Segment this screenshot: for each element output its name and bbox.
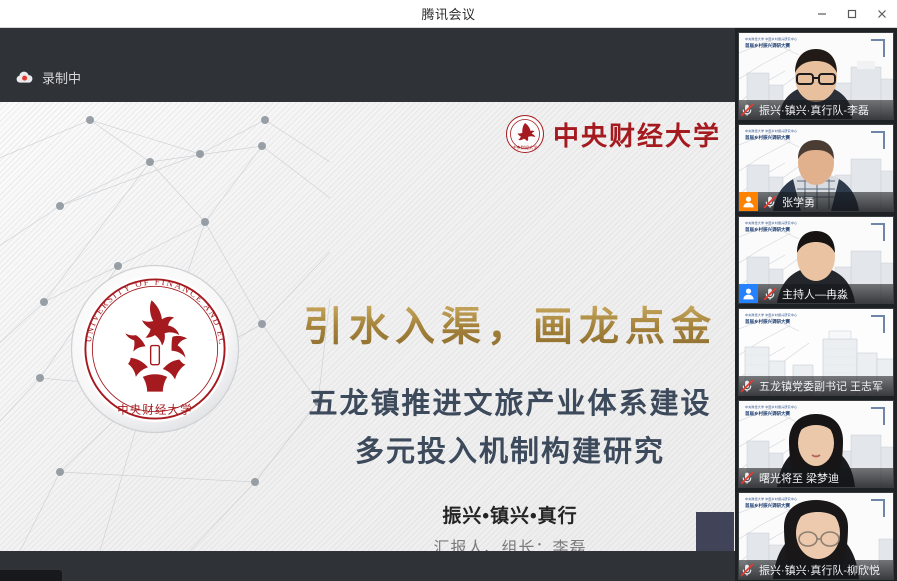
slide-subtitle-line-2: 多元投入机制构建研究	[300, 428, 720, 470]
participant-tile[interactable]: 中央财经大学 中国乡村振兴研究中心 首届乡村振兴调研大赛 振兴·镇兴·真行队-李…	[738, 32, 894, 120]
participant-footer: 振兴·镇兴·真行队-柳欣悦	[739, 560, 893, 579]
university-seal-small-icon: 中央财经大学	[505, 114, 545, 154]
virtual-background-banner: 中央财经大学 中国乡村振兴研究中心 首届乡村振兴调研大赛	[745, 37, 815, 59]
participant-tile[interactable]: 中央财经大学 中国乡村振兴研究中心 首届乡村振兴调研大赛 振兴·镇兴·真行队-柳…	[738, 492, 894, 580]
window-title: 腾讯会议	[421, 4, 475, 23]
virtual-background-banner: 中央财经大学 中国乡村振兴研究中心 首届乡村振兴调研大赛	[745, 313, 815, 335]
cohost-badge-icon	[739, 284, 758, 303]
university-wordmark: 中央财经大学 中央财经大学	[505, 114, 721, 154]
banner-line-2: 首届乡村振兴调研大赛	[745, 503, 815, 509]
participant-name: 主持人—冉淼	[782, 286, 848, 302]
mic-muted-icon[interactable]	[762, 194, 778, 210]
slide-decoration-bar	[696, 512, 734, 551]
banner-line-2: 首届乡村振兴调研大赛	[745, 43, 815, 49]
slide-subtitle-line-1: 五龙镇推进文旅产业体系建设	[300, 380, 720, 422]
window-controls	[807, 0, 897, 28]
participant-video-rail[interactable]: 中央财经大学 中国乡村振兴研究中心 首届乡村振兴调研大赛 振兴·镇兴·真行队-李…	[735, 28, 897, 581]
banner-line-2: 首届乡村振兴调研大赛	[745, 319, 815, 325]
svg-text:中央财经大学: 中央财经大学	[512, 144, 537, 151]
banner-line-1: 中央财经大学 中国乡村振兴研究中心	[745, 221, 815, 225]
participant-footer: 五龙镇党委副书记 王志军	[739, 376, 893, 395]
participant-footer: 张学勇	[739, 192, 893, 211]
banner-line-1: 中央财经大学 中国乡村振兴研究中心	[745, 37, 815, 41]
presentation-slide: 中央财经大学 中央财经大学	[0, 102, 735, 551]
participant-tile[interactable]: 中央财经大学 中国乡村振兴研究中心 首届乡村振兴调研大赛	[738, 216, 894, 304]
mic-muted-icon[interactable]	[762, 286, 778, 302]
university-name: 中央财经大学	[553, 116, 721, 153]
mic-muted-icon[interactable]	[739, 470, 755, 486]
close-icon[interactable]	[867, 0, 897, 28]
participant-name: 曙光将至 梁梦迪	[759, 470, 839, 486]
banner-line-1: 中央财经大学 中国乡村振兴研究中心	[745, 129, 815, 133]
maximize-icon[interactable]	[837, 0, 867, 28]
recording-indicator: 录制中	[16, 66, 81, 88]
banner-line-1: 中央财经大学 中国乡村振兴研究中心	[745, 497, 815, 501]
banner-corner-decoration	[871, 499, 885, 517]
window-title-bar: 腾讯会议	[0, 0, 897, 28]
banner-corner-decoration	[871, 315, 885, 333]
participant-tile[interactable]: 中央财经大学 中国乡村振兴研究中心 首届乡村振兴调研大赛 五龙镇党委副书记 王志…	[738, 308, 894, 396]
cloud-record-icon	[16, 70, 34, 84]
banner-line-2: 首届乡村振兴调研大赛	[745, 411, 815, 417]
slide-credit-presenter: 汇报人、组长：李磊	[280, 534, 735, 551]
participant-name: 振兴·镇兴·真行队-柳欣悦	[759, 562, 880, 578]
host-badge-icon	[739, 192, 758, 211]
banner-corner-decoration	[871, 407, 885, 425]
virtual-background-banner: 中央财经大学 中国乡村振兴研究中心 首届乡村振兴调研大赛	[745, 405, 815, 427]
mic-muted-icon[interactable]	[739, 562, 755, 578]
banner-line-2: 首届乡村振兴调研大赛	[745, 227, 815, 233]
shared-screen-stage: 录制中	[0, 28, 735, 581]
virtual-background-banner: 中央财经大学 中国乡村振兴研究中心 首届乡村振兴调研大赛	[745, 129, 815, 151]
banner-corner-decoration	[871, 131, 885, 149]
tencent-meeting-window: 腾讯会议 录制中	[0, 0, 897, 581]
participant-tile[interactable]: 中央财经大学 中国乡村振兴研究中心 首届乡村振兴调研大赛	[738, 124, 894, 212]
slide-slogan: 振兴•镇兴•真行	[300, 501, 720, 528]
participant-name: 张学勇	[782, 194, 815, 210]
virtual-background-banner: 中央财经大学 中国乡村振兴研究中心 首届乡村振兴调研大赛	[745, 221, 815, 243]
mic-muted-icon[interactable]	[739, 102, 755, 118]
bottom-toolbar-clipped[interactable]	[0, 570, 62, 581]
svg-text:中央财经大学: 中央财经大学	[117, 402, 193, 416]
recording-label: 录制中	[42, 68, 81, 87]
banner-line-2: 首届乡村振兴调研大赛	[745, 135, 815, 141]
mic-muted-icon[interactable]	[739, 378, 755, 394]
virtual-background-banner: 中央财经大学 中国乡村振兴研究中心 首届乡村振兴调研大赛	[745, 497, 815, 519]
banner-corner-decoration	[871, 39, 885, 57]
participant-footer: 曙光将至 梁梦迪	[739, 468, 893, 487]
participant-tile[interactable]: 中央财经大学 中国乡村振兴研究中心 首届乡村振兴调研大赛 曙光将至 梁梦迪	[738, 400, 894, 488]
participant-name: 五龙镇党委副书记 王志军	[759, 378, 883, 394]
participant-footer: 主持人—冉淼	[739, 284, 893, 303]
banner-line-1: 中央财经大学 中国乡村振兴研究中心	[745, 313, 815, 317]
slide-main-title: 引水入渠，画龙点金	[300, 294, 720, 352]
participant-footer: 振兴·镇兴·真行队-李磊	[739, 100, 893, 119]
participant-name: 振兴·镇兴·真行队-李磊	[759, 102, 869, 118]
banner-corner-decoration	[871, 223, 885, 241]
university-seal-large-icon: CENTRAL UNIVERSITY OF FINANCE AND ECONOM…	[68, 262, 242, 436]
banner-line-1: 中央财经大学 中国乡村振兴研究中心	[745, 405, 815, 409]
minimize-icon[interactable]	[807, 0, 837, 28]
